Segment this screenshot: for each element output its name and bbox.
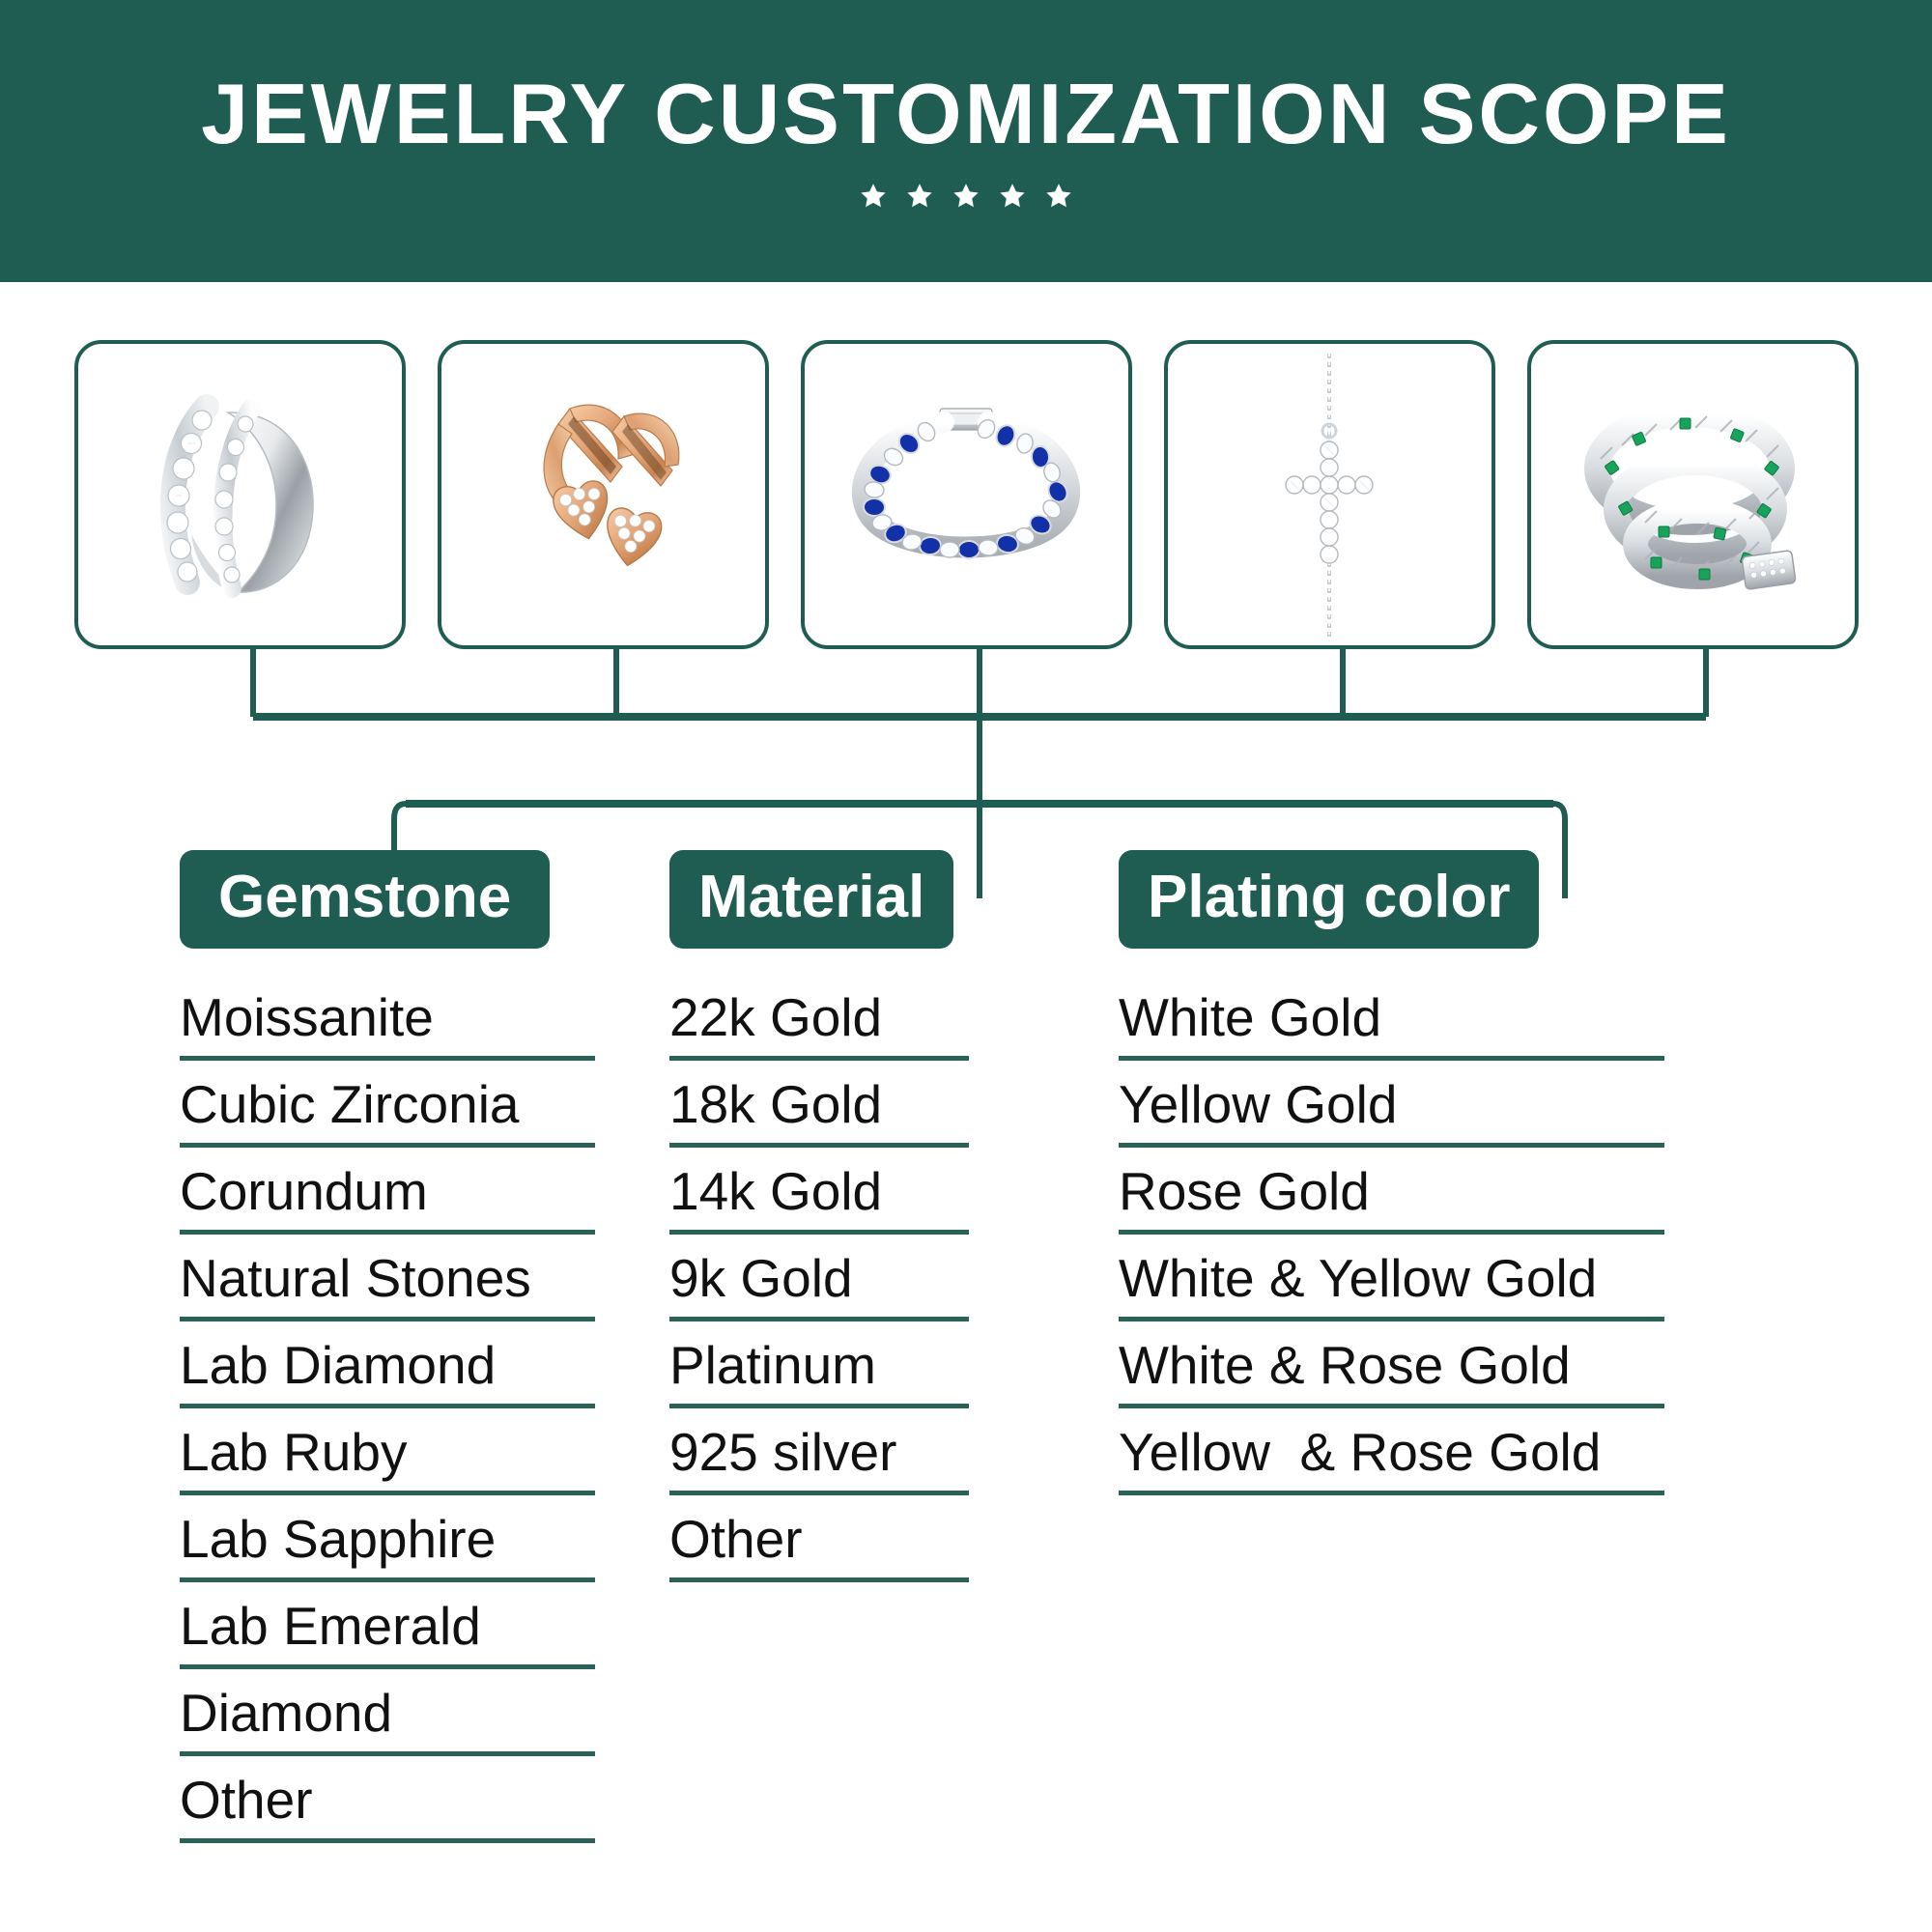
category-columns: Gemstone Moissanite Cubic Zirconia Corun… bbox=[0, 850, 1932, 1843]
product-card-ring[interactable] bbox=[74, 340, 406, 649]
category-title-material: Material bbox=[669, 850, 953, 949]
option-list-material: 22k Gold 18k Gold 14k Gold 9k Gold Plati… bbox=[669, 991, 969, 1582]
product-card-chain[interactable] bbox=[1527, 340, 1859, 649]
diamond-ring-icon bbox=[114, 374, 365, 615]
star-rating-decoration bbox=[859, 182, 1073, 211]
list-item[interactable]: White & Yellow Gold bbox=[1119, 1252, 1664, 1321]
list-item[interactable]: Natural Stones bbox=[180, 1252, 595, 1321]
list-item[interactable]: Yellow Gold bbox=[1119, 1078, 1664, 1148]
cross-pendant-icon bbox=[1233, 350, 1426, 639]
category-gemstone: Gemstone Moissanite Cubic Zirconia Corun… bbox=[180, 850, 595, 1843]
tennis-bracelet-icon bbox=[826, 384, 1106, 606]
star-icon bbox=[859, 182, 888, 211]
category-title-plating-color: Plating color bbox=[1119, 850, 1539, 949]
star-icon bbox=[1044, 182, 1073, 211]
list-item[interactable]: Lab Diamond bbox=[180, 1339, 595, 1408]
page-title: JEWELRY CUSTOMIZATION SCOPE bbox=[201, 71, 1731, 156]
list-item[interactable]: Yellow & Rose Gold bbox=[1119, 1426, 1664, 1495]
category-title-gemstone: Gemstone bbox=[180, 850, 550, 949]
list-item[interactable]: Other bbox=[180, 1774, 595, 1843]
list-item[interactable]: 9k Gold bbox=[669, 1252, 969, 1321]
product-card-bracelet[interactable] bbox=[801, 340, 1132, 649]
heart-earrings-icon bbox=[477, 374, 728, 615]
page-header: JEWELRY CUSTOMIZATION SCOPE bbox=[0, 0, 1932, 282]
category-plating-color: Plating color White Gold Yellow Gold Ros… bbox=[1119, 850, 1664, 1843]
product-card-earrings[interactable] bbox=[438, 340, 769, 649]
list-item[interactable]: 18k Gold bbox=[669, 1078, 969, 1148]
list-item[interactable]: Platinum bbox=[669, 1339, 969, 1408]
option-list-plating-color: White Gold Yellow Gold Rose Gold White &… bbox=[1119, 991, 1664, 1495]
list-item[interactable]: 14k Gold bbox=[669, 1165, 969, 1235]
star-icon bbox=[998, 182, 1027, 211]
list-item[interactable]: White Gold bbox=[1119, 991, 1664, 1061]
category-material: Material 22k Gold 18k Gold 14k Gold 9k G… bbox=[669, 850, 969, 1843]
star-icon bbox=[952, 182, 980, 211]
list-item[interactable]: Corundum bbox=[180, 1165, 595, 1235]
product-card-necklace[interactable] bbox=[1164, 340, 1495, 649]
cuban-link-chain-icon bbox=[1562, 374, 1823, 615]
list-item[interactable]: Lab Emerald bbox=[180, 1600, 595, 1669]
list-item[interactable]: Diamond bbox=[180, 1687, 595, 1756]
list-item[interactable]: Rose Gold bbox=[1119, 1165, 1664, 1235]
list-item[interactable]: 22k Gold bbox=[669, 991, 969, 1061]
option-list-gemstone: Moissanite Cubic Zirconia Corundum Natur… bbox=[180, 991, 595, 1843]
list-item[interactable]: Other bbox=[669, 1513, 969, 1582]
list-item[interactable]: Lab Ruby bbox=[180, 1426, 595, 1495]
list-item[interactable]: Moissanite bbox=[180, 991, 595, 1061]
list-item[interactable]: White & Rose Gold bbox=[1119, 1339, 1664, 1408]
list-item[interactable]: Cubic Zirconia bbox=[180, 1078, 595, 1148]
list-item[interactable]: 925 silver bbox=[669, 1426, 969, 1495]
star-icon bbox=[905, 182, 934, 211]
product-card-row bbox=[0, 340, 1932, 649]
list-item[interactable]: Lab Sapphire bbox=[180, 1513, 595, 1582]
